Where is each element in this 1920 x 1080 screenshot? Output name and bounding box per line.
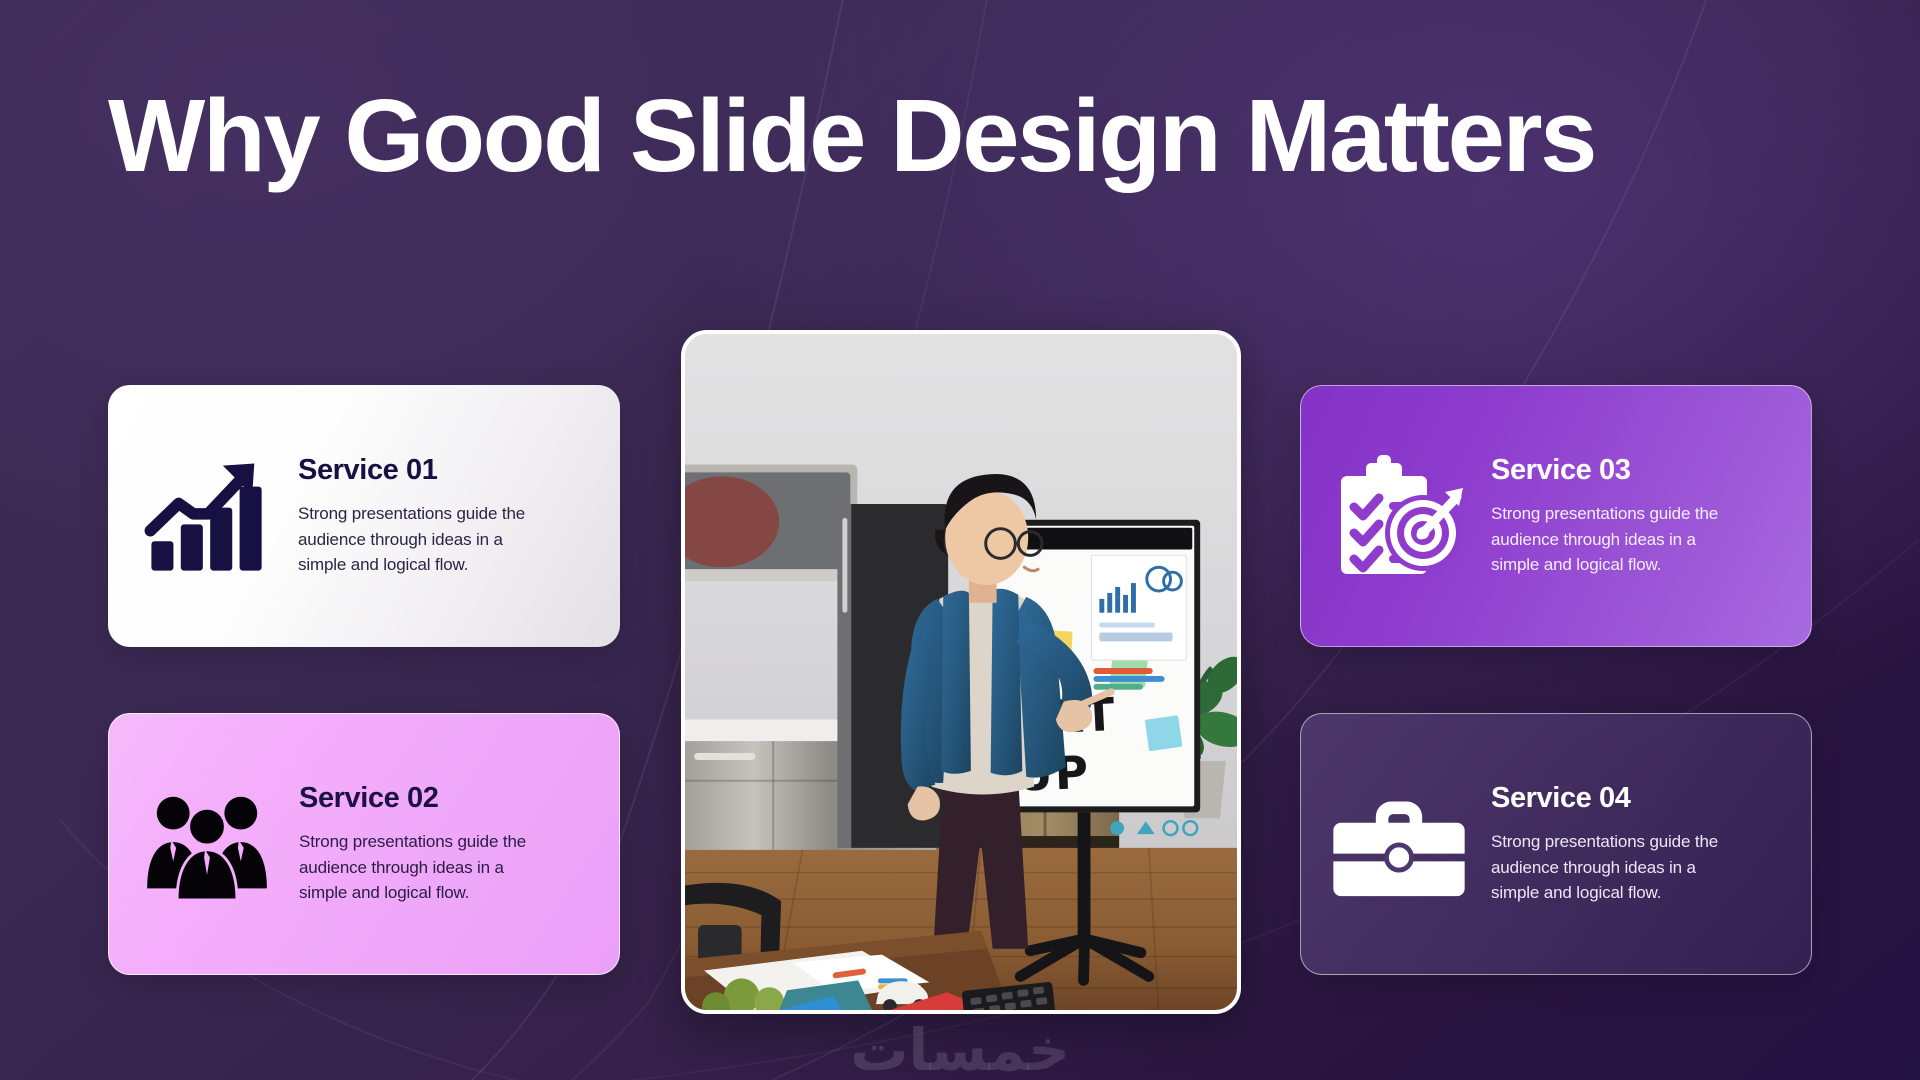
slide-root: Why Good Slide Design Matters Service 01… <box>0 0 1920 1080</box>
service-card-04-heading: Service 04 <box>1491 782 1785 815</box>
service-card-03-text: Service 03 Strong presentations guide th… <box>1491 454 1785 578</box>
service-card-03[interactable]: Service 03 Strong presentations guide th… <box>1300 385 1812 647</box>
service-card-01-heading: Service 01 <box>298 454 594 487</box>
service-card-04-text: Service 04 Strong presentations guide th… <box>1491 782 1785 906</box>
service-card-04[interactable]: Service 04 Strong presentations guide th… <box>1300 713 1812 975</box>
service-card-04-body: Strong presentations guide the audience … <box>1491 829 1746 906</box>
service-card-03-heading: Service 03 <box>1491 454 1785 487</box>
service-card-02[interactable]: Service 02 Strong presentations guide th… <box>108 713 620 975</box>
clipboard-target-icon <box>1329 446 1469 586</box>
watermark: خمسات <box>850 1016 1070 1080</box>
service-card-03-body: Strong presentations guide the audience … <box>1491 501 1746 578</box>
service-card-02-body: Strong presentations guide the audience … <box>299 829 554 906</box>
team-people-icon <box>137 774 277 914</box>
growth-chart-icon <box>136 446 276 586</box>
service-card-01-body: Strong presentations guide the audience … <box>298 501 553 578</box>
briefcase-icon <box>1329 774 1469 914</box>
service-card-02-heading: Service 02 <box>299 782 593 815</box>
presentation-photo: ART UP <box>681 330 1241 1014</box>
photo-illustration: ART UP <box>685 334 1237 1010</box>
service-card-02-text: Service 02 Strong presentations guide th… <box>299 782 593 906</box>
service-card-01-text: Service 01 Strong presentations guide th… <box>298 454 594 578</box>
service-card-01[interactable]: Service 01 Strong presentations guide th… <box>108 385 620 647</box>
page-title: Why Good Slide Design Matters <box>108 82 1848 190</box>
